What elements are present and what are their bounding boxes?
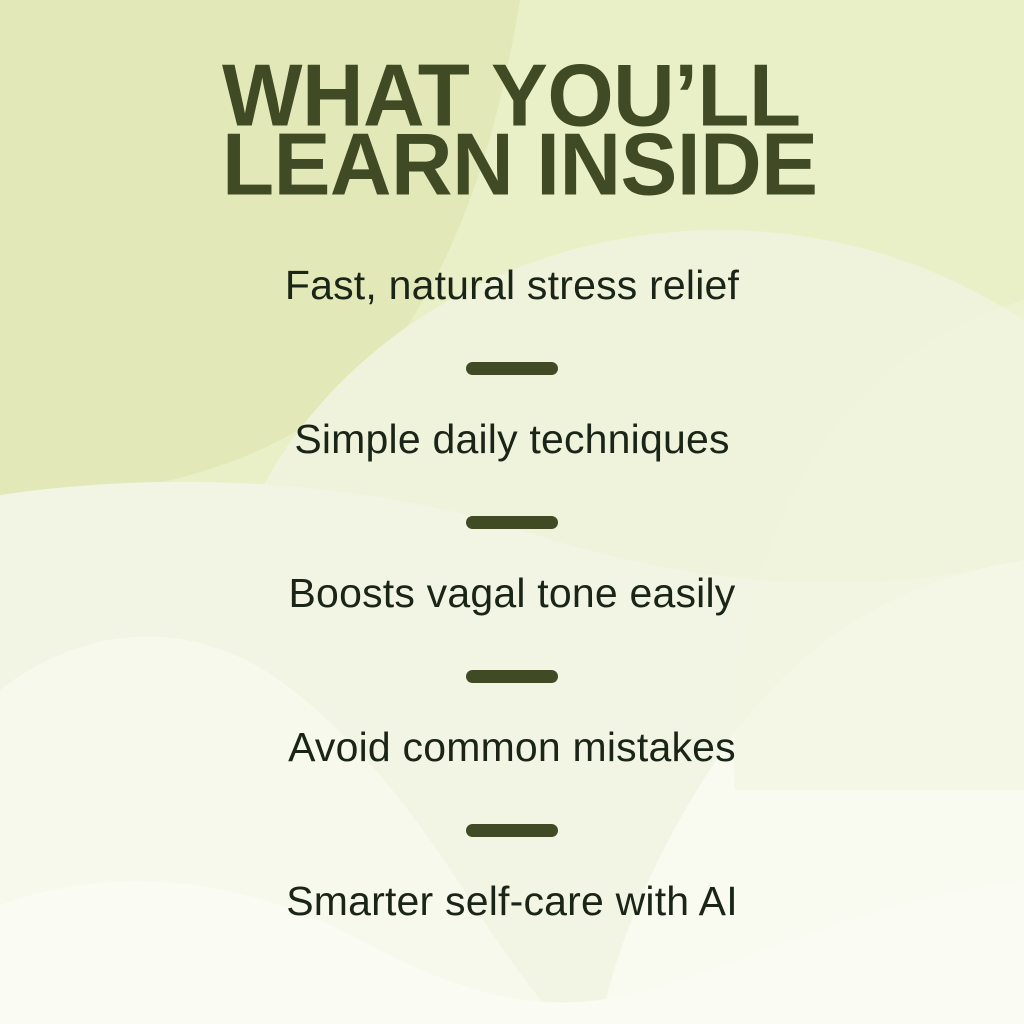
- divider-bar-icon: [466, 516, 558, 529]
- poster-canvas: WHAT YOU’LL LEARN INSIDE Fast, natural s…: [0, 0, 1024, 1024]
- list-item-label: Fast, natural stress relief: [0, 265, 1024, 317]
- list-item: Boosts vagal tone easily: [0, 573, 1024, 625]
- list-item-label: Simple daily techniques: [0, 419, 1024, 471]
- list-item-label: Boosts vagal tone easily: [0, 573, 1024, 625]
- list-divider-2: [0, 471, 1024, 573]
- list-item-label: Avoid common mistakes: [0, 727, 1024, 779]
- list-divider-3: [0, 625, 1024, 727]
- list-item: Simple daily techniques: [0, 419, 1024, 471]
- list-item-label: Smarter self-care with AI: [0, 881, 1024, 933]
- list-item: Smarter self-care with AI: [0, 881, 1024, 933]
- list-divider-1: [0, 317, 1024, 419]
- list-item: Avoid common mistakes: [0, 727, 1024, 779]
- list-item: Fast, natural stress relief: [0, 265, 1024, 317]
- divider-bar-icon: [466, 362, 558, 375]
- benefits-list: Fast, natural stress relief Simple daily…: [0, 265, 1024, 933]
- poster-content: WHAT YOU’LL LEARN INSIDE Fast, natural s…: [0, 0, 1024, 1024]
- divider-bar-icon: [466, 824, 558, 837]
- page-title: WHAT YOU’LL LEARN INSIDE: [222, 62, 922, 195]
- divider-bar-icon: [466, 670, 558, 683]
- page-title-line-2: LEARN INSIDE: [222, 131, 950, 200]
- list-divider-4: [0, 779, 1024, 881]
